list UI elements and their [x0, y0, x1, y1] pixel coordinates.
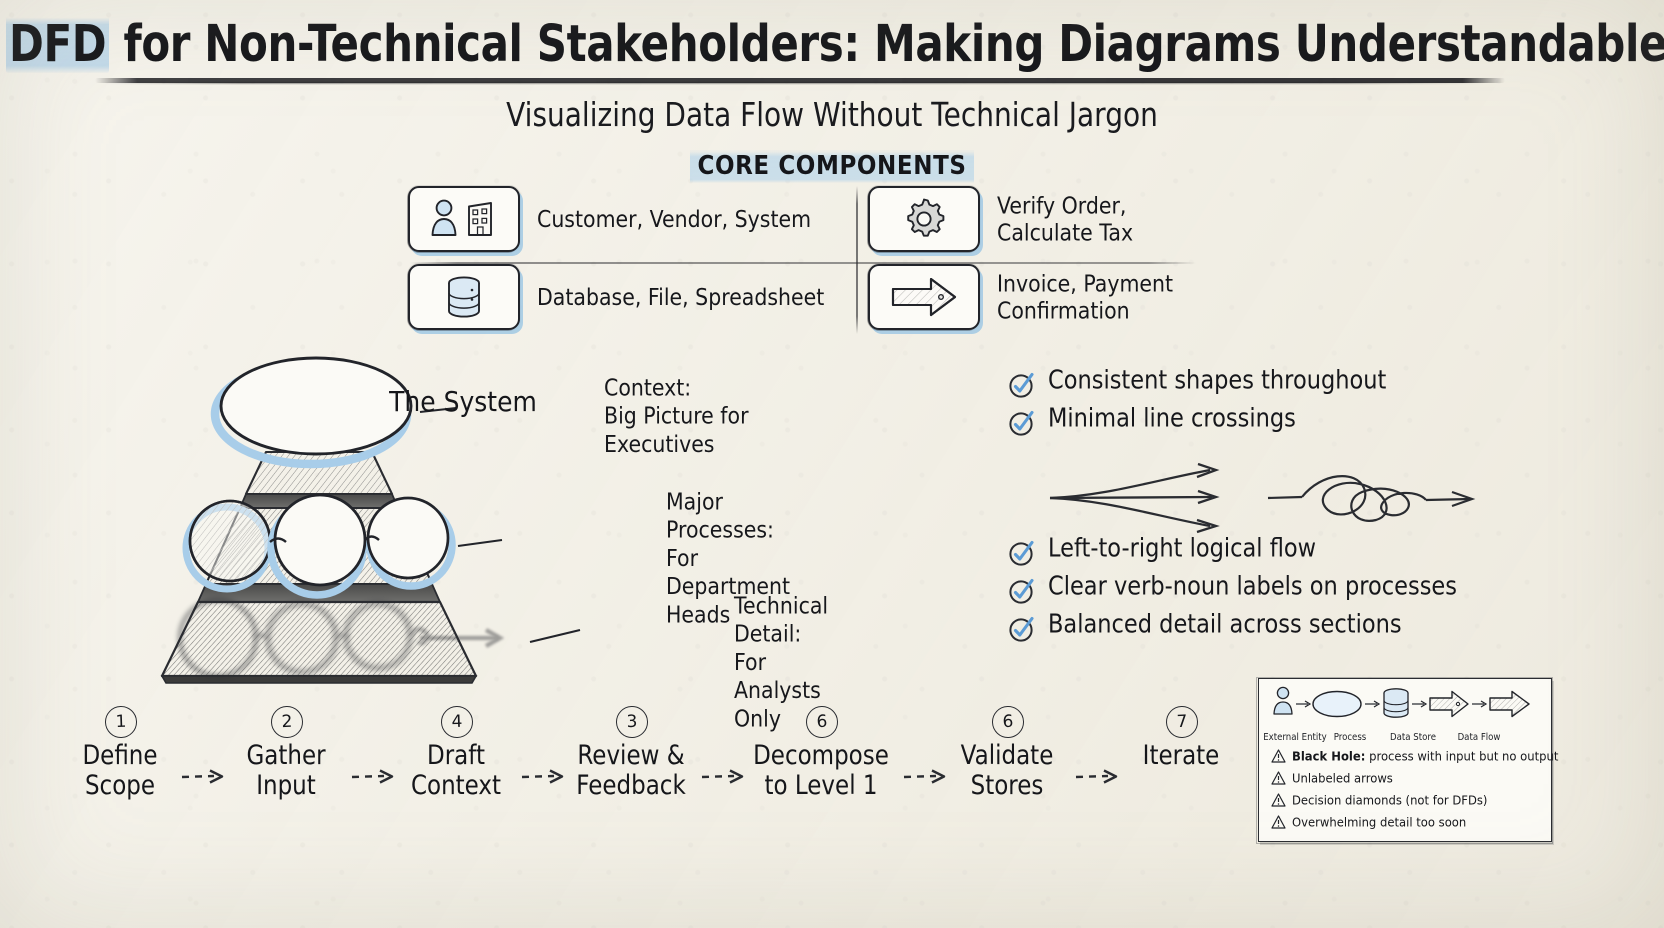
step-arrow-icon [348, 766, 402, 786]
clean-fanout-arrows [1050, 464, 1216, 532]
pyramid-tier-label-context: Context: Big Picture for Executives [604, 374, 760, 459]
title-highlight-word: DFD [6, 14, 109, 73]
step-label: Decompose to Level 1 [746, 742, 896, 801]
pyramid-diagram: The System Context: Big Picture for Exec… [120, 346, 760, 694]
process-step: 2 Gather Input [226, 706, 346, 794]
page-title: DFD for Non-Technical Stakeholders: Maki… [0, 14, 1664, 78]
step-label: Draft Context [396, 742, 516, 801]
warning-row: Unlabeled arrows [1271, 771, 1393, 785]
step-number-badge: 6 [992, 706, 1022, 736]
checklist-item: Clear verb-noun labels on processes [1008, 574, 1548, 612]
process-ellipse-icon [1313, 692, 1361, 717]
process-step: 4 Draft Context [396, 706, 516, 794]
core-component-process-label: Verify Order, Calculate Tax [997, 192, 1133, 246]
warning-row: Overwhelming detail too soon [1271, 815, 1466, 829]
arrow-block-icon [887, 274, 961, 320]
step-number-badge: 6 [806, 706, 836, 736]
core-components-grid: Customer, Vendor, System Verify Order, C… [408, 184, 1208, 336]
title-underline [95, 78, 1505, 83]
data-flow-arrow-icon [1430, 692, 1468, 717]
pyramid-top-label: The System [373, 385, 553, 417]
process-steps-flow: 1 Define Scope 2 Gather Input 4 Draft Co… [60, 706, 1250, 826]
flow-comparison-illustration [1046, 452, 1486, 542]
check-circle-icon [1008, 615, 1036, 647]
checklist-item-label: Consistent shapes throughout [1048, 368, 1386, 395]
step-arrow-icon [178, 766, 232, 786]
data-flow-arrow-icon-2 [1490, 692, 1529, 717]
legend-shape-row [1267, 683, 1543, 735]
checklist-item-label: Clear verb-noun labels on processes [1048, 574, 1457, 601]
process-step: 3 Review & Feedback [566, 706, 696, 794]
legend-caption: Data Flow [1445, 733, 1513, 744]
checklist-item: Balanced detail across sections [1008, 612, 1548, 650]
step-label: Define Scope [60, 742, 180, 801]
gear-icon [900, 195, 948, 243]
core-components-header-label: CORE COMPONENTS [690, 150, 973, 182]
core-component-entity-label: Customer, Vendor, System [537, 205, 811, 232]
entity-icon-box [408, 186, 520, 252]
warning-label: Black Hole: process with input but no ou… [1292, 748, 1558, 763]
data-store-icon [1384, 689, 1408, 717]
database-icon [441, 273, 487, 321]
warning-row: Black Hole: process with input but no ou… [1271, 749, 1558, 763]
step-arrow-icon [518, 766, 572, 786]
process-step: 6 Decompose to Level 1 [746, 706, 896, 794]
step-number-badge: 7 [1166, 706, 1196, 736]
title-block: DFD for Non-Technical Stakeholders: Maki… [0, 14, 1664, 67]
warning-label: Decision diamonds (not for DFDs) [1292, 792, 1487, 807]
step-number-badge: 4 [441, 706, 471, 736]
step-label: Validate Stores [944, 742, 1070, 801]
step-number-badge: 3 [616, 706, 646, 736]
core-component-datastore: Database, File, Spreadsheet [408, 264, 824, 330]
person-building-icon [427, 197, 501, 241]
step-number-badge: 2 [271, 706, 301, 736]
checklist-item: Minimal line crossings [1008, 406, 1548, 444]
step-label: Iterate [1118, 742, 1244, 772]
page-subtitle: Visualizing Data Flow Without Technical … [0, 96, 1664, 134]
checklist-item: Consistent shapes throughout [1008, 368, 1548, 406]
process-icon-box [868, 186, 980, 252]
check-circle-icon [1008, 539, 1036, 571]
core-component-process: Verify Order, Calculate Tax [868, 186, 1133, 252]
process-step: 7 Iterate [1118, 706, 1244, 768]
step-number-badge: 1 [105, 706, 135, 736]
tangled-scribble-arrow [1268, 476, 1472, 521]
legend-panel: External Entity Process Data Store Data … [1258, 678, 1552, 842]
warning-label: Unlabeled arrows [1292, 770, 1393, 785]
core-components-header: CORE COMPONENTS [0, 152, 1664, 181]
step-label: Gather Input [226, 742, 346, 801]
warning-triangle-icon [1271, 793, 1286, 807]
core-component-dataflow-label: Invoice, Payment Confirmation [997, 270, 1173, 324]
warning-triangle-icon [1271, 771, 1286, 785]
process-step: 1 Define Scope [60, 706, 180, 794]
warning-row: Decision diamonds (not for DFDs) [1271, 793, 1487, 807]
title-rest: for Non-Technical Stakeholders: Making D… [109, 14, 1664, 73]
check-circle-icon [1008, 371, 1036, 403]
legend-caption: Process [1315, 733, 1385, 744]
step-arrow-icon [698, 766, 752, 786]
legend-caption: Data Store [1379, 733, 1447, 744]
warning-triangle-icon [1271, 749, 1286, 763]
external-entity-icon [1274, 687, 1292, 714]
warning-triangle-icon [1271, 815, 1286, 829]
core-component-dataflow: Invoice, Payment Confirmation [868, 264, 1173, 330]
dataflow-icon-box [868, 264, 980, 330]
warning-label: Overwhelming detail too soon [1292, 814, 1466, 829]
checklist-item-label: Balanced detail across sections [1048, 612, 1402, 639]
process-step: 6 Validate Stores [944, 706, 1070, 794]
checklist-item-label: Minimal line crossings [1048, 406, 1296, 433]
core-component-datastore-label: Database, File, Spreadsheet [537, 283, 824, 310]
core-component-entity: Customer, Vendor, System [408, 186, 811, 252]
check-circle-icon [1008, 577, 1036, 609]
step-label: Review & Feedback [566, 742, 696, 801]
check-circle-icon [1008, 409, 1036, 441]
datastore-icon-box [408, 264, 520, 330]
